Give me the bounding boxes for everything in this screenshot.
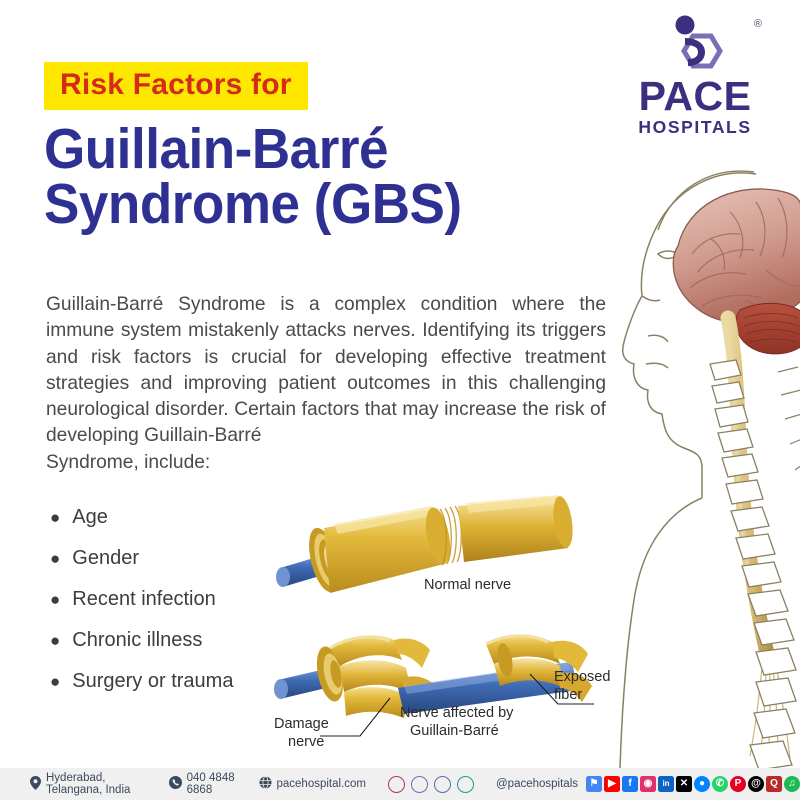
normal-nerve-label: Normal nerve — [424, 577, 511, 593]
risk-factor-label: Surgery or trauma — [72, 670, 233, 693]
whatsapp-icon[interactable]: ✆ — [712, 776, 728, 792]
logo-mark-icon: ® — [612, 14, 778, 76]
footer-location: Hyderabad, Telangana, India — [30, 772, 147, 796]
bullet-dot-icon: ● — [50, 509, 60, 526]
list-item: ● Surgery or trauma — [50, 670, 300, 711]
phone-icon — [169, 776, 182, 792]
brain-graphic — [673, 189, 800, 323]
intro-paragraph: Guillain-Barré Syndrome is a complex con… — [46, 292, 606, 476]
registered-trademark-symbol: ® — [754, 18, 762, 30]
footer-website[interactable]: pacehospital.com — [259, 776, 367, 792]
pinterest-icon[interactable]: P — [730, 776, 746, 792]
bullet-dot-icon: ● — [50, 591, 60, 608]
threads-icon[interactable]: @ — [748, 776, 764, 792]
quora-icon[interactable]: Q — [766, 776, 782, 792]
nerve-diagram-illustration: Normal nerve — [272, 482, 632, 752]
globe-icon — [259, 776, 272, 792]
cerebellum-graphic — [736, 303, 800, 353]
exposed-fiber-label-line2: fiber — [554, 687, 582, 703]
damage-nerve-label-line1: Damage — [274, 716, 329, 732]
jci-badge — [434, 776, 451, 793]
ribbon-heading: Risk Factors for — [44, 62, 308, 110]
social-handle: @pacehospitals — [496, 778, 578, 790]
paragraph-text: Guillain-Barré Syndrome is a complex con… — [46, 294, 606, 446]
youtube-icon[interactable]: ▶ — [604, 776, 620, 792]
head-spine-anatomy-illustration — [606, 150, 800, 770]
damage-nerve-label-line2: nerve — [288, 734, 324, 750]
instagram-icon[interactable]: ◉ — [640, 776, 656, 792]
risk-factor-label: Gender — [72, 547, 139, 570]
linkedin-icon[interactable]: in — [658, 776, 674, 792]
list-item: ● Gender — [50, 547, 300, 588]
infographic-poster: ® PACE HOSPITALS Risk Factors for Guilla… — [0, 0, 800, 800]
x-twitter-icon[interactable]: ✕ — [676, 776, 692, 792]
location-pin-icon — [30, 776, 41, 793]
social-links: ⚑ ▶ f ◉ in ✕ ● ✆ P @ Q ♫ — [586, 776, 800, 792]
nabl-badge — [411, 776, 428, 793]
footer-phone[interactable]: 040 4848 6868 — [169, 772, 237, 796]
list-item: ● Recent infection — [50, 588, 300, 629]
bullet-dot-icon: ● — [50, 632, 60, 649]
spinous-process-graphic — [778, 367, 800, 470]
footer-bar: Hyderabad, Telangana, India 040 4848 686… — [0, 768, 800, 800]
list-item: ● Age — [50, 506, 300, 547]
google-business-icon[interactable]: ⚑ — [586, 776, 602, 792]
logo-wordmark: PACE — [612, 77, 778, 116]
title-line-2: Syndrome (GBS) — [44, 177, 583, 232]
risk-factors-list: ● Age ● Gender ● Recent infection ● Chro… — [50, 506, 300, 711]
footer-website-text: pacehospital.com — [277, 778, 367, 790]
logo-subtitle: HOSPITALS — [612, 118, 778, 137]
risk-factor-label: Age — [72, 506, 108, 529]
paragraph-last-line: Syndrome, include: — [46, 450, 606, 476]
accreditation-badges — [388, 776, 474, 793]
messenger-icon[interactable]: ● — [694, 776, 710, 792]
footer-phone-text: 040 4848 6868 — [187, 772, 237, 796]
nabh-badge — [388, 776, 405, 793]
risk-factor-label: Chronic illness — [72, 629, 202, 652]
spotify-icon[interactable]: ♫ — [784, 776, 800, 792]
affected-nerve-label-line2: Guillain-Barré — [410, 723, 499, 739]
risk-factor-label: Recent infection — [72, 588, 215, 611]
facebook-icon[interactable]: f — [622, 776, 638, 792]
affected-nerve-label-line1: Nerve affected by — [400, 705, 514, 721]
list-item: ● Chronic illness — [50, 629, 300, 670]
bullet-dot-icon: ● — [50, 550, 60, 567]
page-title: Guillain-Barré Syndrome (GBS) — [44, 122, 583, 233]
exposed-fiber-label-line1: Exposed — [554, 669, 610, 685]
title-line-1: Guillain-Barré — [44, 122, 583, 177]
bullet-dot-icon: ● — [50, 673, 60, 690]
brand-logo: ® PACE HOSPITALS — [612, 14, 778, 137]
footer-location-text: Hyderabad, Telangana, India — [46, 772, 147, 796]
iso-badge — [457, 776, 474, 793]
